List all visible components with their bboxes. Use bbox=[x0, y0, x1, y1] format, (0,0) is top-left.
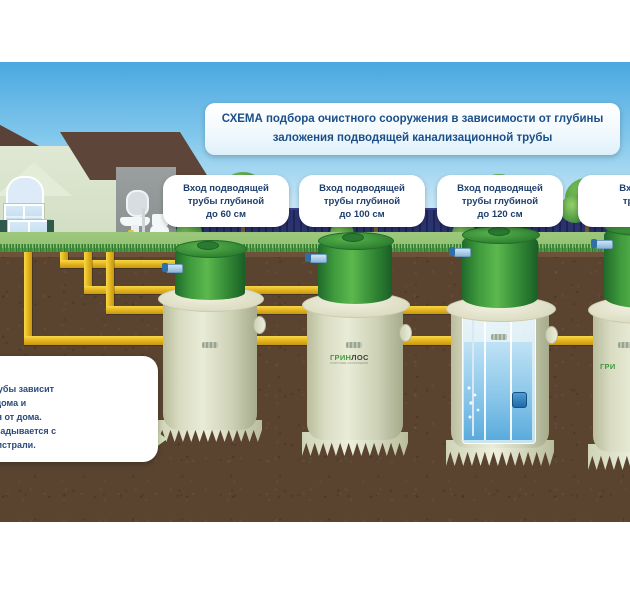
septic-unit-3 bbox=[436, 234, 568, 490]
callout-line-3: до 60 см bbox=[171, 208, 281, 221]
tank-brand-green: ГРИ bbox=[600, 362, 616, 371]
title-line-2: заложения подводящей канализационной тру… bbox=[205, 129, 620, 148]
callout-line-3: до 100 см bbox=[307, 208, 417, 221]
bathroom-mirror-icon bbox=[126, 190, 149, 217]
inlet-cap-icon bbox=[449, 247, 455, 256]
info-line-5: огонный магистрали. bbox=[0, 438, 146, 452]
scene: ГРИНЛОС ОЧИСТНЫЕ СООРУЖЕНИЯ bbox=[0, 62, 630, 522]
tank-body-lower bbox=[593, 372, 630, 452]
callout-line-1: Вход подводящей bbox=[445, 182, 555, 195]
tank-brand: ГРИ bbox=[600, 362, 616, 371]
septic-unit-4: ГРИ bbox=[578, 230, 630, 492]
callout-line-1: Вход подводящей bbox=[171, 182, 281, 195]
pipe-drop-4 bbox=[24, 252, 32, 344]
info-line-2: гистрали из дома и bbox=[0, 396, 146, 410]
info-line-4: страль прокладывается с bbox=[0, 424, 146, 438]
tank-body-lower bbox=[307, 364, 403, 440]
tank-logo-mark bbox=[618, 342, 630, 348]
callout-line-1: Вход под bbox=[586, 182, 630, 195]
inlet-cap-icon bbox=[591, 239, 597, 248]
riser bbox=[604, 224, 630, 308]
tank-side-lug bbox=[253, 316, 266, 334]
inlet-port bbox=[310, 254, 327, 263]
septic-unit-2: ГРИНЛОС ОЧИСТНЫЕ СООРУЖЕНИЯ bbox=[292, 236, 422, 484]
callout-depth-140: Вход под трубы г до 1 bbox=[578, 175, 630, 227]
riser-hatch-icon bbox=[197, 241, 219, 250]
info-line-1: дводящей трубы зависит bbox=[0, 382, 146, 396]
callout-line-2: трубы г bbox=[586, 195, 630, 208]
house-arch-window bbox=[6, 176, 44, 206]
callout-depth-100: Вход подводящей трубы глубиной до 100 см bbox=[299, 175, 425, 227]
callout-line-3: до 1 bbox=[586, 208, 630, 221]
tank-side-lug bbox=[399, 324, 412, 342]
riser-hatch-icon bbox=[342, 233, 364, 242]
tank-brand-green: ГРИН bbox=[330, 353, 351, 362]
inlet-port bbox=[454, 248, 471, 257]
tank-logo-mark bbox=[346, 342, 362, 348]
callout-line-2: трубы глубиной bbox=[445, 195, 555, 208]
pipe-drop-3 bbox=[106, 252, 114, 314]
info-box: ГРИНЛОС дводящей трубы зависит гистрали … bbox=[0, 356, 158, 462]
tank-brand-sub: ОЧИСТНЫЕ СООРУЖЕНИЯ bbox=[330, 362, 368, 365]
chamber-divider-1 bbox=[484, 314, 486, 440]
inlet-port bbox=[166, 264, 183, 273]
pump-icon bbox=[512, 392, 527, 408]
callout-line-2: трубы глубиной bbox=[307, 195, 417, 208]
title-banner: СХЕМА подбора очистного сооружения в зав… bbox=[205, 103, 620, 155]
callout-line-1: Вход подводящей bbox=[307, 182, 417, 195]
inlet-cap-icon bbox=[305, 253, 311, 262]
scheme-illustration: ГРИНЛОС ОЧИСТНЫЕ СООРУЖЕНИЯ bbox=[0, 0, 630, 600]
tank-side-lug bbox=[545, 326, 558, 344]
septic-unit-1 bbox=[150, 238, 276, 478]
riser-hatch-icon bbox=[488, 227, 510, 236]
inlet-port bbox=[596, 240, 613, 249]
chamber-divider-2 bbox=[510, 314, 512, 440]
inlet-cap-icon bbox=[162, 263, 168, 272]
tank-body-lower bbox=[163, 356, 257, 430]
tank-brand: ГРИНЛОС bbox=[330, 353, 369, 362]
callout-line-2: трубы глубиной bbox=[171, 195, 281, 208]
callout-depth-60: Вход подводящей трубы глубиной до 60 см bbox=[163, 175, 289, 227]
title-line-1: СХЕМА подбора очистного сооружения в зав… bbox=[205, 110, 620, 129]
tank-logo-mark bbox=[491, 334, 507, 340]
info-line-3: о сооружения от дома. bbox=[0, 410, 146, 424]
callout-line-3: до 120 см bbox=[445, 208, 555, 221]
aeration-bubbles bbox=[466, 384, 482, 436]
tank-logo-mark bbox=[202, 342, 218, 348]
info-box-title: ГРИНЛОС bbox=[0, 365, 146, 377]
callout-depth-120: Вход подводящей трубы глубиной до 120 см bbox=[437, 175, 563, 227]
tank-brand-dark: ЛОС bbox=[351, 353, 368, 362]
